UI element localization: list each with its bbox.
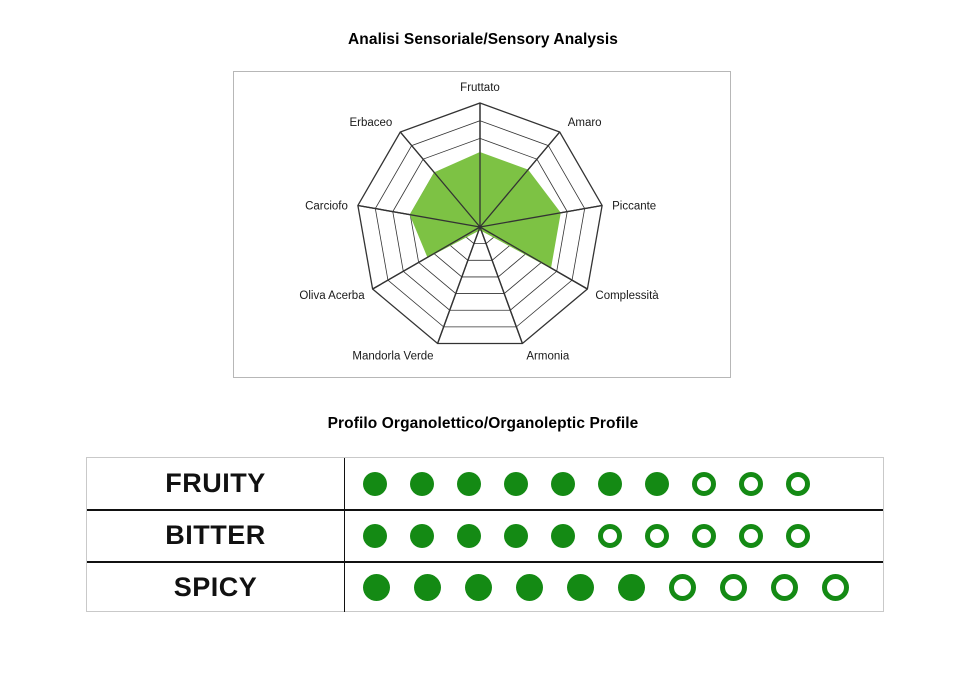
rating-dot-empty[interactable]	[786, 524, 810, 548]
rating-dot-empty[interactable]	[739, 472, 763, 496]
rating-dot-filled[interactable]	[363, 524, 387, 548]
rating-dot-filled[interactable]	[598, 472, 622, 496]
rating-dot-filled[interactable]	[457, 524, 481, 548]
radar-axis-label: Mandorla Verde	[352, 351, 433, 363]
rating-dot-filled[interactable]	[410, 524, 434, 548]
rating-dot-empty[interactable]	[692, 472, 716, 496]
sensory-analysis-title: Analisi Sensoriale/Sensory Analysis	[0, 31, 966, 49]
rating-dot-filled[interactable]	[363, 472, 387, 496]
rating-dot-filled[interactable]	[551, 472, 575, 496]
radar-axis-label: Complessità	[595, 290, 659, 302]
rating-dot-empty[interactable]	[720, 574, 747, 601]
rating-dot-empty[interactable]	[645, 524, 669, 548]
rating-dot-filled[interactable]	[465, 574, 492, 601]
rating-dot-filled[interactable]	[363, 574, 390, 601]
radar-axis-label: Oliva Acerba	[299, 290, 365, 302]
profile-rating-dots	[345, 563, 883, 612]
rating-dot-empty[interactable]	[822, 574, 849, 601]
profile-row: FRUITY	[87, 458, 883, 509]
profile-row-label-cell: BITTER	[87, 511, 345, 560]
radar-axis-label: Erbaceo	[349, 117, 392, 129]
profile-row-label: BITTER	[165, 520, 266, 551]
profile-row-label-cell: FRUITY	[87, 458, 345, 509]
radar-axis-label: Carciofo	[305, 201, 348, 213]
profile-rating-dots	[345, 458, 883, 509]
rating-dot-filled[interactable]	[516, 574, 543, 601]
rating-dot-filled[interactable]	[504, 472, 528, 496]
rating-dot-filled[interactable]	[504, 524, 528, 548]
rating-dot-filled[interactable]	[645, 472, 669, 496]
profile-row: SPICY	[87, 561, 883, 612]
rating-dot-filled[interactable]	[457, 472, 481, 496]
profile-rating-dots	[345, 511, 883, 560]
radar-axis-label: Amaro	[568, 117, 602, 129]
rating-dot-empty[interactable]	[692, 524, 716, 548]
radar-axis-label: Armonia	[526, 351, 569, 363]
profile-row: BITTER	[87, 509, 883, 560]
radar-axis-label: Fruttato	[460, 82, 500, 94]
organoleptic-profile-table: FRUITYBITTERSPICY	[86, 457, 884, 612]
radar-axis-label: Piccante	[612, 201, 656, 213]
organoleptic-profile-title: Profilo Organolettico/Organoleptic Profi…	[0, 415, 966, 433]
profile-row-label-cell: SPICY	[87, 563, 345, 612]
radar-chart-panel: FruttatoAmaroPiccanteComplessitàArmoniaM…	[233, 71, 731, 378]
radar-chart: FruttatoAmaroPiccanteComplessitàArmoniaM…	[234, 72, 730, 377]
rating-dot-empty[interactable]	[669, 574, 696, 601]
rating-dot-filled[interactable]	[410, 472, 434, 496]
rating-dot-empty[interactable]	[771, 574, 798, 601]
rating-dot-empty[interactable]	[739, 524, 763, 548]
rating-dot-filled[interactable]	[414, 574, 441, 601]
rating-dot-empty[interactable]	[598, 524, 622, 548]
rating-dot-filled[interactable]	[618, 574, 645, 601]
profile-row-label: SPICY	[174, 572, 258, 603]
rating-dot-filled[interactable]	[551, 524, 575, 548]
rating-dot-empty[interactable]	[786, 472, 810, 496]
profile-row-label: FRUITY	[165, 468, 266, 499]
rating-dot-filled[interactable]	[567, 574, 594, 601]
